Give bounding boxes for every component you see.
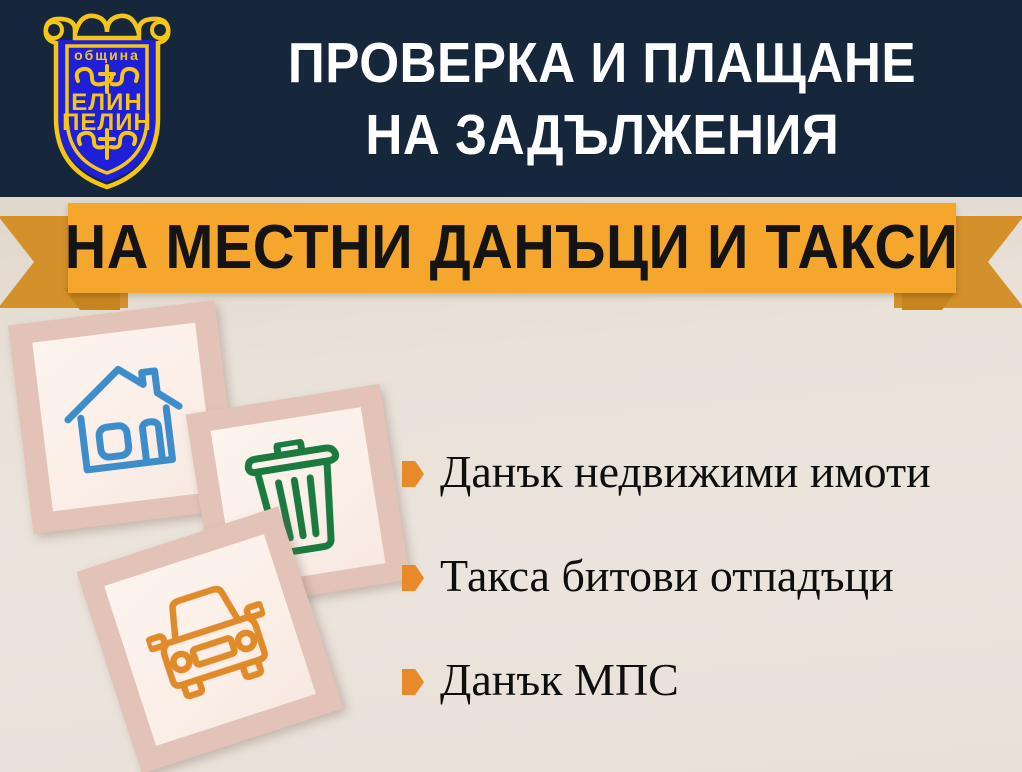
municipality-logo: община ЕЛИН ПЕЛИН [18,6,196,191]
page-title: ПРОВЕРКА И ПЛАЩАНЕ НА ЗАДЪЛЖЕНИЯ [196,16,1008,182]
page-title-line-2: НА ЗАДЪЛЖЕНИЯ [365,99,839,171]
bullet-arrow-icon [402,669,424,695]
list-item-label: Такса битови отпадъци [440,551,894,601]
tax-type-list: Данък недвижими имоти Такса битови отпад… [402,420,1012,732]
list-item[interactable]: Данък недвижими имоти [402,420,1012,524]
subtitle-ribbon: НА МЕСТНИ ДАНЪЦИ И ТАКСИ [0,196,1022,316]
poster-canvas: община ЕЛИН ПЕЛИН ПРОВЕРКА И ПЛАЩАНЕ НА … [0,0,1022,772]
car-icon [136,572,284,709]
house-icon [57,354,192,480]
page-title-line-1: ПРОВЕРКА И ПЛАЩАНЕ [288,27,916,99]
list-item[interactable]: Данък МПС [402,628,1012,732]
ribbon-label: НА МЕСТНИ ДАНЪЦИ И ТАКСИ [65,217,959,279]
list-item[interactable]: Такса битови отпадъци [402,524,1012,628]
logo-line-two: ПЕЛИН [62,109,152,136]
list-item-label: Данък недвижими имоти [440,447,931,497]
bullet-arrow-icon [402,565,424,591]
ribbon-band: НА МЕСТНИ ДАНЪЦИ И ТАКСИ [68,203,956,293]
bullet-arrow-icon [402,461,424,487]
list-item-label: Данък МПС [440,655,679,705]
coat-of-arms-icon: община ЕЛИН ПЕЛИН [18,6,196,191]
logo-line-small: община [74,47,140,63]
header-banner: община ЕЛИН ПЕЛИН ПРОВЕРКА И ПЛАЩАНЕ НА … [0,0,1022,197]
